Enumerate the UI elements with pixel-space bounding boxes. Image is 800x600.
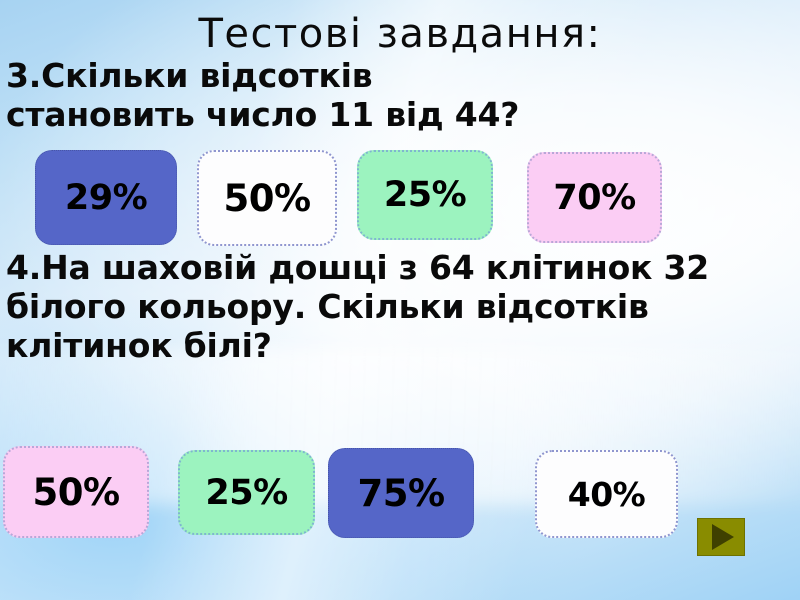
next-slide-button[interactable] bbox=[697, 518, 745, 556]
slide-canvas: Тестові завдання: 3.Скільки відсотків ст… bbox=[0, 0, 800, 600]
answer-option-q4-3[interactable]: 75% bbox=[328, 448, 474, 538]
answer-option-q4-4[interactable]: 40% bbox=[535, 450, 678, 538]
answer-option-q3-4[interactable]: 70% bbox=[527, 152, 662, 243]
answer-option-q4-2[interactable]: 25% bbox=[178, 450, 315, 535]
question-4-text: 4.На шаховій дошці з 64 клітинок 32 біло… bbox=[6, 248, 796, 365]
answer-option-q3-3[interactable]: 25% bbox=[357, 150, 493, 240]
answer-label: 25% bbox=[384, 175, 466, 215]
page-title: Тестові завдання: bbox=[0, 12, 800, 56]
answer-label: 50% bbox=[32, 471, 119, 514]
answer-option-q3-1[interactable]: 29% bbox=[35, 150, 177, 245]
question-3-text: 3.Скільки відсотків становить число 11 в… bbox=[6, 56, 526, 134]
answer-label: 29% bbox=[65, 178, 147, 218]
play-triangle-icon bbox=[712, 524, 734, 550]
answer-label: 40% bbox=[568, 475, 646, 514]
answer-label: 75% bbox=[357, 472, 444, 515]
answer-label: 50% bbox=[223, 177, 310, 220]
answer-label: 25% bbox=[205, 473, 287, 513]
answer-label: 70% bbox=[553, 178, 635, 218]
answer-option-q4-1[interactable]: 50% bbox=[3, 446, 149, 538]
answer-option-q3-2[interactable]: 50% bbox=[197, 150, 337, 246]
